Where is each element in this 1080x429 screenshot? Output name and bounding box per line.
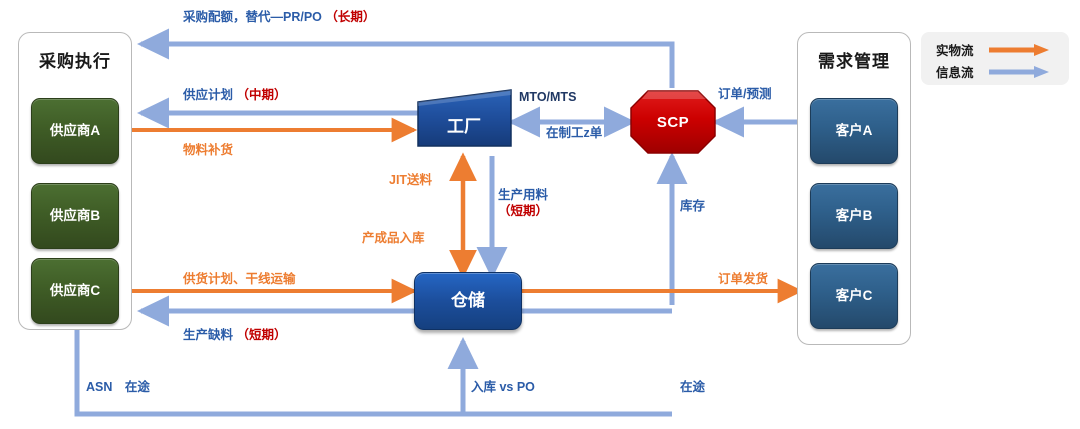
node-customer-b[interactable]: 客户B (810, 183, 898, 249)
node-customer-c[interactable]: 客户C (810, 263, 898, 329)
label-procurement-quota-main: 采购配额，替代—PR/PO (183, 10, 322, 24)
label-procurement-quota: 采购配额，替代—PR/PO （长期） (183, 10, 375, 26)
legend-label-information-flow: 信息流 (936, 62, 988, 81)
label-production-material: 生产用料 （短期） (498, 188, 548, 219)
legend-item-information-flow: 信息流 (936, 62, 1050, 81)
label-wip-work-order: 在制工z单 (546, 126, 602, 142)
node-supplier-b[interactable]: 供应商B (31, 183, 119, 249)
edge-asn-in-transit (77, 330, 672, 414)
label-inventory: 库存 (680, 199, 705, 215)
demand-management-title: 需求管理 (797, 47, 911, 72)
legend-item-physical-flow: 实物流 (936, 40, 1050, 59)
label-in-transit: 在途 (680, 380, 705, 396)
label-production-shortage: 生产缺料 （短期） (183, 328, 287, 344)
label-production-material-suffix: （短期） (498, 204, 548, 220)
node-factory-shape[interactable] (412, 84, 516, 156)
physical-flow-arrow-icon (988, 43, 1050, 57)
label-delivery-plan-trunk: 供货计划、干线运输 (183, 272, 296, 288)
label-supply-plan-suffix: （中期） (237, 88, 287, 102)
label-material-replenish: 物料补货 (183, 143, 233, 159)
node-supplier-a[interactable]: 供应商A (31, 98, 119, 164)
legend-label-physical-flow: 实物流 (936, 40, 988, 59)
label-asn-in-transit: ASN 在途 (86, 380, 150, 396)
node-customer-a[interactable]: 客户A (810, 98, 898, 164)
label-supply-plan: 供应计划 （中期） (183, 88, 287, 104)
label-production-material-main: 生产用料 (498, 188, 548, 204)
label-production-shortage-main: 生产缺料 (183, 328, 233, 342)
label-procurement-quota-suffix: （长期） (325, 10, 375, 24)
information-flow-arrow-icon (988, 65, 1050, 79)
label-jit-feeding: JIT送料 (389, 173, 432, 189)
node-supplier-c[interactable]: 供应商C (31, 258, 119, 324)
node-scp-shape[interactable] (628, 88, 718, 156)
node-warehouse[interactable]: 仓储 (414, 272, 522, 330)
edge-procurement-quota (141, 44, 672, 88)
purchasing-execution-title: 采购执行 (18, 47, 132, 72)
label-production-shortage-suffix: （短期） (237, 328, 287, 342)
label-mto-mts: MTO/MTS (519, 90, 576, 106)
label-inbound-vs-po: 入库 vs PO (471, 380, 535, 396)
label-order-shipment: 订单发货 (718, 272, 768, 288)
label-finished-goods-inbound: 产成品入库 (362, 231, 425, 247)
supply-chain-diagram: 采购执行 供应商A 供应商B 供应商C 需求管理 客户A 客户B 客户C 工厂 (0, 0, 1080, 429)
label-order-forecast: 订单/预测 (718, 87, 771, 103)
label-supply-plan-main: 供应计划 (183, 88, 233, 102)
